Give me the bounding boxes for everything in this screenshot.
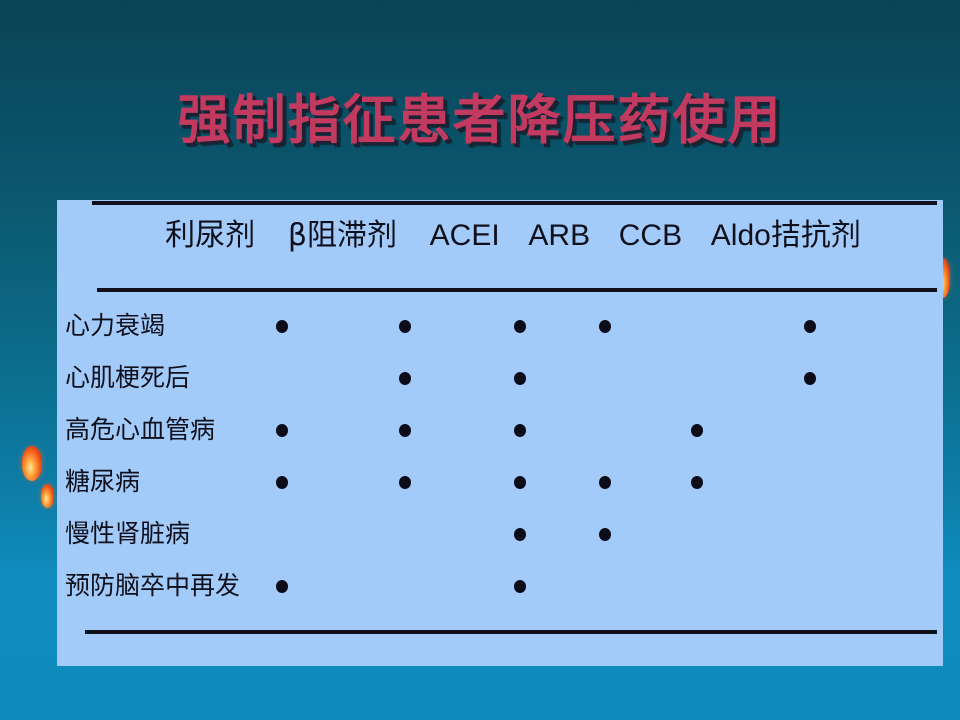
mark-dot-diabetes-arb [599, 476, 611, 489]
mark-dot-heart-failure-acei [514, 320, 526, 333]
mark-dot-high-cv-risk-ccb [691, 424, 703, 437]
table-rule-bottom [85, 630, 937, 634]
table-row: 预防脑卒中再发 [57, 560, 943, 612]
mark-dot-chronic-kidney-arb [599, 528, 611, 541]
column-header-diuretic: 利尿剂 [165, 214, 255, 258]
row-label-stroke-prevention: 预防脑卒中再发 [65, 560, 240, 612]
mark-dot-stroke-prevention-acei [514, 580, 526, 593]
column-header-aldo: Aldo拮抗剂 [711, 214, 861, 258]
table-column-header-row: 利尿剂 β阻滞剂 ACEI ARB CCB Aldo拮抗剂 [57, 214, 943, 258]
decoration-pill-large-icon [22, 446, 42, 481]
table-row: 高危心血管病 [57, 404, 943, 456]
mark-dot-post-mi-aldo [804, 372, 816, 385]
mark-dot-diabetes-acei [514, 476, 526, 489]
table-row: 心肌梗死后 [57, 352, 943, 404]
row-label-heart-failure: 心力衰竭 [65, 300, 165, 352]
row-label-high-cv-risk: 高危心血管病 [65, 404, 215, 456]
table-rule-top [92, 201, 937, 205]
mark-dot-high-cv-risk-beta-blocker [399, 424, 411, 437]
column-header-acei: ACEI [430, 214, 500, 258]
row-label-post-mi: 心肌梗死后 [65, 352, 190, 404]
row-label-chronic-kidney: 慢性肾脏病 [65, 508, 190, 560]
table-row: 糖尿病 [57, 456, 943, 508]
mark-dot-diabetes-beta-blocker [399, 476, 411, 489]
page-title: 强制指征患者降压药使用 [0, 88, 960, 152]
column-header-ccb: CCB [619, 214, 682, 258]
row-label-diabetes: 糖尿病 [65, 456, 140, 508]
slide-canvas: 强制指征患者降压药使用 利尿剂 β阻滞剂 ACEI ARB CCB Aldo拮抗… [0, 0, 960, 720]
mark-dot-heart-failure-arb [599, 320, 611, 333]
mark-dot-heart-failure-aldo [804, 320, 816, 333]
indication-matrix: 心力衰竭心肌梗死后高危心血管病糖尿病慢性肾脏病预防脑卒中再发 [57, 300, 943, 625]
mark-dot-high-cv-risk-acei [514, 424, 526, 437]
mark-dot-chronic-kidney-acei [514, 528, 526, 541]
mark-dot-high-cv-risk-diuretic [276, 424, 288, 437]
table-row: 心力衰竭 [57, 300, 943, 352]
indication-table-panel: 利尿剂 β阻滞剂 ACEI ARB CCB Aldo拮抗剂 心力衰竭心肌梗死后高… [57, 200, 943, 666]
table-rule-header [97, 288, 937, 292]
mark-dot-heart-failure-diuretic [276, 320, 288, 333]
mark-dot-stroke-prevention-diuretic [276, 580, 288, 593]
mark-dot-heart-failure-beta-blocker [399, 320, 411, 333]
column-header-beta-blocker: β阻滞剂 [288, 214, 397, 258]
mark-dot-diabetes-diuretic [276, 476, 288, 489]
mark-dot-diabetes-ccb [691, 476, 703, 489]
mark-dot-post-mi-acei [514, 372, 526, 385]
table-row: 慢性肾脏病 [57, 508, 943, 560]
mark-dot-post-mi-beta-blocker [399, 372, 411, 385]
column-header-arb: ARB [528, 214, 590, 258]
decoration-pill-small-icon [41, 484, 54, 508]
